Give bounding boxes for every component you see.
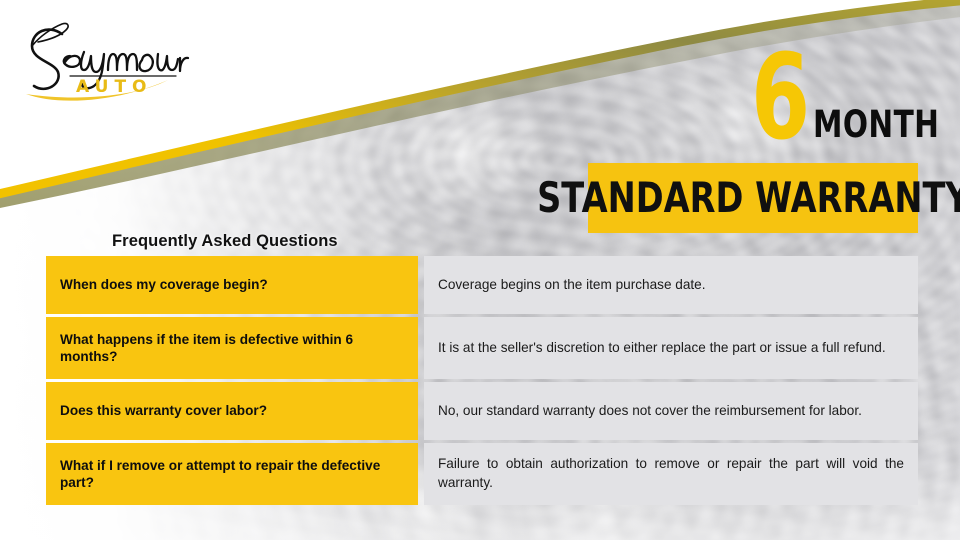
- table-row: What if I remove or attempt to repair th…: [46, 443, 918, 505]
- faq-answer-cell: Failure to obtain authorization to remov…: [424, 443, 918, 505]
- faq-table: When does my coverage begin? Coverage be…: [46, 256, 918, 505]
- faq-answer-cell: Coverage begins on the item purchase dat…: [424, 256, 918, 314]
- faq-heading: Frequently Asked Questions: [112, 232, 338, 251]
- faq-question-cell: Does this warranty cover labor?: [46, 382, 418, 440]
- standard-warranty-banner: STANDARD WARRANTY: [588, 163, 918, 233]
- seymour-auto-logo: AUTO: [18, 14, 193, 110]
- standard-warranty-text: STANDARD WARRANTY: [537, 177, 960, 219]
- warranty-duration-badge: 6 MONTH: [745, 50, 930, 160]
- faq-answer-cell: No, our standard warranty does not cover…: [424, 382, 918, 440]
- table-row: When does my coverage begin? Coverage be…: [46, 256, 918, 314]
- faq-question-text: Does this warranty cover labor?: [60, 402, 267, 419]
- table-row: Does this warranty cover labor? No, our …: [46, 382, 918, 440]
- faq-question-text: What if I remove or attempt to repair th…: [60, 457, 404, 492]
- warranty-months-label: MONTH: [813, 106, 939, 143]
- faq-question-cell: What happens if the item is defective wi…: [46, 317, 418, 379]
- faq-answer-text: Coverage begins on the item purchase dat…: [438, 276, 904, 295]
- logo-auto-text: AUTO: [76, 77, 153, 97]
- faq-answer-text: It is at the seller's discretion to eith…: [438, 339, 904, 358]
- warranty-months-number: 6: [751, 38, 809, 156]
- table-row: What happens if the item is defective wi…: [46, 317, 918, 379]
- faq-question-cell: When does my coverage begin?: [46, 256, 418, 314]
- faq-question-text: What happens if the item is defective wi…: [60, 331, 404, 366]
- faq-question-text: When does my coverage begin?: [60, 276, 268, 293]
- faq-answer-text: No, our standard warranty does not cover…: [438, 402, 904, 421]
- warranty-slide: AUTO 6 MONTH STANDARD WARRANTY Frequentl…: [0, 0, 960, 540]
- faq-answer-cell: It is at the seller's discretion to eith…: [424, 317, 918, 379]
- faq-question-cell: What if I remove or attempt to repair th…: [46, 443, 418, 505]
- faq-answer-text: Failure to obtain authorization to remov…: [438, 455, 904, 493]
